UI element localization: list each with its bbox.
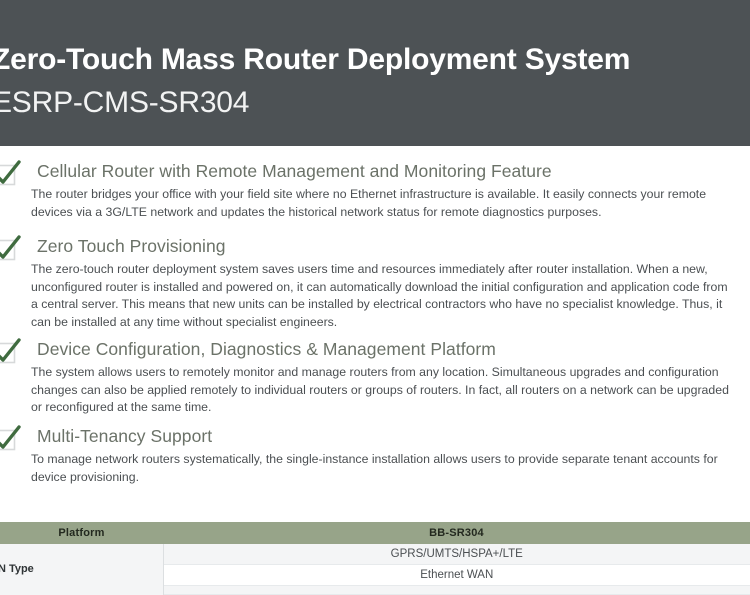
feature-list: Cellular Router with Remote Management a… <box>0 146 750 506</box>
green-checkmark-checkbox-icon <box>0 160 21 188</box>
page-hero-header: Zero-Touch Mass Router Deployment System… <box>0 0 750 146</box>
feature-description: The system allows users to remotely moni… <box>31 364 731 417</box>
table-header-row: Platform BB-SR304 <box>0 522 750 544</box>
page-title: Zero-Touch Mass Router Deployment System <box>0 40 630 80</box>
green-checkmark-checkbox-icon <box>0 338 21 366</box>
table-row: AN Type GPRS/UMTS/HSPA+/LTE <box>0 544 750 565</box>
table-row-label-text: AN Type <box>0 563 163 575</box>
feature-heading: Multi-Tenancy Support <box>31 425 731 451</box>
page-subtitle-model: ESRP-CMS-SR304 <box>0 84 249 122</box>
table-row-label-wan-type: AN Type <box>0 544 163 595</box>
feature-heading: Cellular Router with Remote Management a… <box>31 160 731 186</box>
green-checkmark-checkbox-icon <box>0 235 21 263</box>
green-checkmark-checkbox-icon <box>0 425 21 453</box>
table-cell-value-partial <box>163 586 750 595</box>
feature-body: Cellular Router with Remote Management a… <box>31 160 731 221</box>
table-cell-value: Ethernet WAN <box>163 565 750 586</box>
table-cell-value: GPRS/UMTS/HSPA+/LTE <box>163 544 750 565</box>
feature-description: To manage network routers systematically… <box>31 451 731 486</box>
hero-text-wrap: Zero-Touch Mass Router Deployment System… <box>0 0 750 146</box>
feature-description: The zero-touch router deployment system … <box>31 261 731 331</box>
feature-heading: Zero Touch Provisioning <box>31 235 731 261</box>
table-header-model: BB-SR304 <box>163 522 750 544</box>
table-header-platform: Platform <box>0 522 163 544</box>
feature-description: The router bridges your office with your… <box>31 186 731 221</box>
feature-body: Device Configuration, Diagnostics & Mana… <box>31 338 731 417</box>
specification-table: Platform BB-SR304 AN Type GPRS/UMTS/HSPA… <box>0 522 750 595</box>
feature-body: Multi-Tenancy Support To manage network … <box>31 425 731 486</box>
feature-heading: Device Configuration, Diagnostics & Mana… <box>31 338 731 364</box>
feature-body: Zero Touch Provisioning The zero-touch r… <box>31 235 731 331</box>
